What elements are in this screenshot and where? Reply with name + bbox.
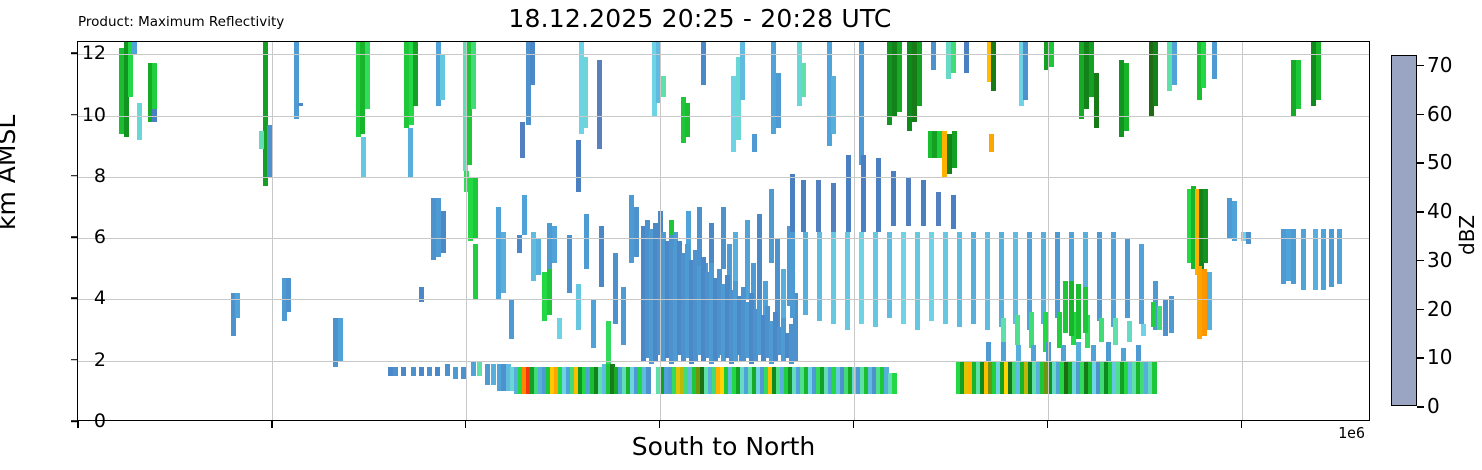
reflectivity-cell — [361, 137, 366, 177]
x-axis-tick-mark — [1241, 421, 1243, 428]
reflectivity-cell — [752, 134, 757, 152]
reflectivity-cell — [365, 42, 370, 109]
colorbar-tick-label: 60 — [1427, 102, 1452, 126]
reflectivity-cell — [1227, 198, 1232, 238]
colorbar-tick-label: 0 — [1427, 394, 1440, 418]
reflectivity-cell — [1241, 232, 1246, 241]
reflectivity-cell — [1197, 266, 1202, 340]
y-axis-tick-mark — [71, 359, 77, 361]
reflectivity-cell — [912, 42, 917, 122]
reflectivity-cell — [932, 131, 937, 159]
reflectivity-cell — [1301, 229, 1306, 290]
reflectivity-cell — [137, 103, 142, 140]
reflectivity-cell — [333, 318, 338, 367]
reflectivity-cell — [801, 180, 806, 232]
x-axis-tick-mark — [271, 421, 273, 428]
reflectivity-cell — [404, 42, 409, 128]
reflectivity-cell — [1076, 342, 1081, 360]
reflectivity-cell — [491, 364, 496, 385]
reflectivity-cell — [294, 42, 299, 119]
reflectivity-cell — [1094, 73, 1099, 128]
reflectivity-cell — [360, 42, 365, 134]
reflectivity-cell — [152, 63, 157, 109]
reflectivity-cell — [661, 76, 666, 97]
reflectivity-cell — [393, 367, 398, 376]
reflectivity-cell — [985, 232, 990, 330]
reflectivity-cell — [441, 211, 446, 254]
reflectivity-cell — [1139, 244, 1144, 324]
reflectivity-cell — [859, 42, 864, 165]
reflectivity-cell — [1232, 201, 1237, 241]
y-axis-label: km AMSL — [0, 115, 21, 230]
reflectivity-cell — [915, 232, 920, 330]
colorbar-tick-mark — [1417, 357, 1424, 359]
reflectivity-cell — [1296, 60, 1301, 109]
reflectivity-cell — [876, 158, 881, 232]
reflectivity-cell — [892, 42, 897, 116]
x-axis-tick-mark — [659, 421, 661, 428]
reflectivity-cell — [685, 103, 690, 137]
reflectivity-cell — [629, 195, 634, 262]
reflectivity-cell — [1099, 318, 1104, 343]
reflectivity-cell — [1001, 318, 1006, 343]
colorbar-tick-label: 20 — [1427, 297, 1452, 321]
reflectivity-cell — [583, 57, 588, 127]
reflectivity-cell — [701, 42, 706, 85]
reflectivity-cell — [999, 232, 1004, 327]
chart-title: 18.12.2025 20:25 - 20:28 UTC — [0, 4, 1400, 33]
reflectivity-cell — [1063, 281, 1068, 333]
reflectivity-cell — [892, 373, 897, 394]
x-axis-exponent: 1e6 — [1338, 424, 1365, 442]
reflectivity-cell — [861, 155, 866, 232]
colorbar-tick-mark — [1417, 309, 1424, 311]
reflectivity-cell — [1311, 42, 1316, 106]
reflectivity-cell — [1202, 269, 1207, 336]
reflectivity-cell — [298, 103, 303, 106]
reflectivity-cell — [936, 192, 941, 226]
reflectivity-cell — [952, 131, 957, 168]
reflectivity-cell — [1153, 42, 1158, 106]
reflectivity-cell — [1055, 232, 1060, 318]
reflectivity-cell — [1057, 312, 1062, 349]
x-axis-tick-mark — [77, 421, 79, 428]
colorbar — [1391, 55, 1417, 406]
reflectivity-cell — [621, 287, 626, 345]
reflectivity-cell — [921, 180, 926, 226]
reflectivity-cell — [942, 131, 947, 177]
reflectivity-cell — [547, 269, 552, 315]
reflectivity-cell — [917, 42, 922, 106]
reflectivity-cell — [1246, 232, 1251, 244]
y-axis-tick-mark — [71, 236, 77, 238]
reflectivity-cell — [557, 318, 562, 339]
reflectivity-cell — [721, 207, 726, 268]
reflectivity-cell — [656, 42, 661, 103]
reflectivity-cell — [531, 232, 536, 281]
reflectivity-cell — [790, 232, 795, 318]
x-axis-tick-mark — [853, 421, 855, 428]
x-axis-tick-mark — [465, 421, 467, 428]
reflectivity-cell — [419, 367, 424, 376]
reflectivity-cell — [1089, 42, 1094, 97]
reflectivity-cell — [947, 134, 952, 174]
reflectivity-cell — [401, 367, 406, 376]
reflectivity-cell — [471, 42, 476, 109]
reflectivity-cell — [567, 235, 572, 293]
reflectivity-cell — [989, 134, 994, 152]
reflectivity-cell — [440, 54, 445, 100]
reflectivity-cell — [1041, 232, 1046, 324]
reflectivity-cell — [542, 272, 547, 321]
reflectivity-cell — [1291, 229, 1296, 284]
reflectivity-cell — [1152, 361, 1157, 395]
reflectivity-cell — [408, 128, 413, 177]
reflectivity-cell — [1337, 229, 1342, 284]
colorbar-tick-mark — [1417, 260, 1424, 262]
reflectivity-cell — [1281, 229, 1286, 284]
reflectivity-cell — [897, 42, 902, 112]
reflectivity-cell — [1329, 229, 1334, 287]
colorbar-tick-label: 50 — [1427, 150, 1452, 174]
reflectivity-cell — [1013, 232, 1018, 324]
reflectivity-cell — [445, 364, 450, 376]
reflectivity-cell — [501, 232, 506, 293]
reflectivity-cell — [731, 76, 736, 153]
reflectivity-cells — [78, 42, 1369, 420]
reflectivity-cell — [1212, 42, 1217, 79]
reflectivity-cell — [1106, 342, 1111, 360]
reflectivity-cell — [388, 367, 393, 376]
reflectivity-cell — [803, 232, 808, 315]
colorbar-tick-mark — [1417, 114, 1424, 116]
reflectivity-cell — [576, 284, 581, 330]
reflectivity-cell — [286, 278, 291, 312]
radar-cross-section-figure: Product: Maximum Reflectivity 18.12.2025… — [0, 0, 1482, 470]
reflectivity-cell — [1321, 229, 1326, 290]
reflectivity-cell — [1207, 272, 1212, 330]
reflectivity-cell — [1049, 42, 1054, 67]
reflectivity-cell — [473, 244, 478, 299]
colorbar-tick-label: 30 — [1427, 248, 1452, 272]
reflectivity-cell — [1127, 321, 1132, 342]
reflectivity-cell — [971, 232, 976, 324]
reflectivity-cell — [1163, 299, 1168, 336]
reflectivity-cell — [951, 195, 956, 229]
reflectivity-cell — [427, 367, 432, 376]
colorbar-gradient — [1391, 55, 1417, 406]
reflectivity-cell — [267, 125, 272, 177]
reflectivity-cell — [413, 42, 418, 106]
colorbar-tick-mark — [1417, 162, 1424, 164]
reflectivity-cell — [1046, 342, 1051, 360]
reflectivity-cell — [259, 131, 264, 149]
reflectivity-cell — [943, 232, 948, 324]
reflectivity-cell — [1172, 42, 1177, 85]
reflectivity-cell — [937, 131, 942, 159]
reflectivity-cell — [431, 198, 436, 259]
reflectivity-cell — [907, 42, 912, 131]
reflectivity-cell — [597, 60, 602, 149]
reflectivity-cell — [1125, 238, 1130, 318]
reflectivity-cell — [517, 235, 522, 253]
reflectivity-cell — [846, 155, 851, 232]
reflectivity-cell — [771, 42, 776, 134]
reflectivity-cell — [906, 177, 911, 226]
reflectivity-cell — [1111, 232, 1116, 327]
reflectivity-cell — [831, 76, 836, 134]
reflectivity-cell — [435, 367, 440, 376]
colorbar-tick-mark — [1417, 406, 1424, 408]
reflectivity-cell — [119, 48, 124, 134]
reflectivity-cell — [599, 226, 604, 287]
reflectivity-cell — [501, 364, 506, 392]
reflectivity-cell — [887, 42, 892, 125]
reflectivity-cell — [931, 42, 936, 70]
reflectivity-cell — [411, 367, 416, 376]
reflectivity-cell — [132, 42, 137, 54]
reflectivity-cell — [485, 364, 490, 385]
reflectivity-cell — [436, 198, 441, 256]
reflectivity-cell — [1069, 281, 1074, 336]
reflectivity-cell — [1097, 232, 1102, 321]
reflectivity-cell — [957, 232, 962, 327]
reflectivity-cell — [1044, 42, 1049, 70]
reflectivity-cell — [816, 180, 821, 232]
reflectivity-cell — [1201, 42, 1206, 88]
colorbar-label: dBZ — [1455, 215, 1479, 255]
reflectivity-cell — [1119, 60, 1124, 137]
reflectivity-cell — [496, 207, 501, 299]
reflectivity-cell — [461, 367, 466, 379]
reflectivity-cell — [522, 195, 527, 235]
reflectivity-cell — [471, 361, 476, 376]
y-axis-tick-mark — [71, 52, 77, 54]
reflectivity-cell — [1169, 296, 1174, 333]
reflectivity-cell — [1286, 229, 1291, 281]
reflectivity-cell — [613, 253, 618, 323]
reflectivity-cell — [1313, 229, 1318, 290]
reflectivity-cell — [547, 223, 552, 269]
reflectivity-cell — [801, 63, 806, 97]
reflectivity-cell — [991, 42, 996, 91]
reflectivity-cell — [1124, 63, 1129, 130]
x-axis-label: South to North — [77, 432, 1370, 461]
reflectivity-cell — [817, 232, 822, 321]
reflectivity-cell — [891, 171, 896, 226]
reflectivity-cell — [929, 232, 934, 321]
reflectivity-cell — [509, 299, 514, 339]
reflectivity-cell — [634, 207, 639, 256]
reflectivity-cell — [831, 232, 836, 324]
plot-area — [77, 41, 1370, 421]
reflectivity-cell — [530, 42, 535, 85]
reflectivity-cell — [1203, 189, 1208, 263]
reflectivity-cell — [338, 318, 343, 361]
reflectivity-cell — [468, 177, 473, 241]
reflectivity-cell — [873, 232, 878, 327]
colorbar-tick-label: 40 — [1427, 199, 1452, 223]
reflectivity-cell — [1076, 284, 1081, 339]
reflectivity-cell — [1113, 318, 1118, 346]
reflectivity-cell — [845, 232, 850, 330]
reflectivity-cell — [1167, 42, 1172, 91]
reflectivity-cell — [790, 174, 795, 232]
reflectivity-cell — [951, 42, 956, 73]
reflectivity-cell — [964, 42, 969, 73]
reflectivity-cell — [477, 361, 482, 376]
reflectivity-cell — [606, 321, 611, 364]
reflectivity-cell — [576, 140, 581, 192]
reflectivity-cell — [986, 342, 991, 360]
reflectivity-cell — [235, 293, 240, 318]
reflectivity-cell — [453, 367, 458, 379]
colorbar-tick-label: 70 — [1427, 53, 1452, 77]
reflectivity-cell — [152, 109, 157, 121]
reflectivity-cell — [1141, 324, 1146, 336]
reflectivity-cell — [536, 238, 541, 275]
reflectivity-cell — [1084, 42, 1089, 109]
reflectivity-cell — [1079, 42, 1084, 119]
reflectivity-cell — [419, 287, 424, 302]
reflectivity-cell — [1291, 60, 1296, 115]
y-axis-tick-mark — [71, 298, 77, 300]
y-axis-tick-mark — [71, 175, 77, 177]
reflectivity-cell — [901, 232, 906, 324]
reflectivity-cell — [776, 73, 781, 128]
reflectivity-cell — [1157, 306, 1162, 331]
reflectivity-cell — [1023, 42, 1028, 100]
y-axis-tick-mark — [71, 114, 77, 116]
reflectivity-cell — [1316, 42, 1321, 100]
x-axis-tick-mark — [1047, 421, 1049, 428]
reflectivity-cell — [1151, 302, 1156, 327]
reflectivity-cell — [520, 122, 525, 159]
reflectivity-cell — [745, 220, 750, 300]
reflectivity-cell — [1083, 287, 1088, 333]
reflectivity-cell — [473, 177, 478, 238]
reflectivity-cell — [591, 299, 596, 348]
reflectivity-cell — [646, 367, 651, 395]
colorbar-tick-mark — [1417, 211, 1424, 213]
reflectivity-cell — [831, 183, 836, 232]
reflectivity-cell — [789, 324, 794, 364]
reflectivity-cell — [552, 226, 557, 263]
colorbar-tick-label: 10 — [1427, 345, 1452, 369]
reflectivity-cell — [887, 232, 892, 318]
reflectivity-cell — [1015, 315, 1020, 346]
reflectivity-cell — [584, 214, 589, 269]
reflectivity-cell — [740, 42, 745, 100]
reflectivity-cell — [1029, 312, 1034, 349]
colorbar-tick-mark — [1417, 65, 1424, 67]
reflectivity-cell — [946, 42, 951, 79]
reflectivity-cell — [859, 232, 864, 324]
reflectivity-cell — [769, 189, 774, 263]
